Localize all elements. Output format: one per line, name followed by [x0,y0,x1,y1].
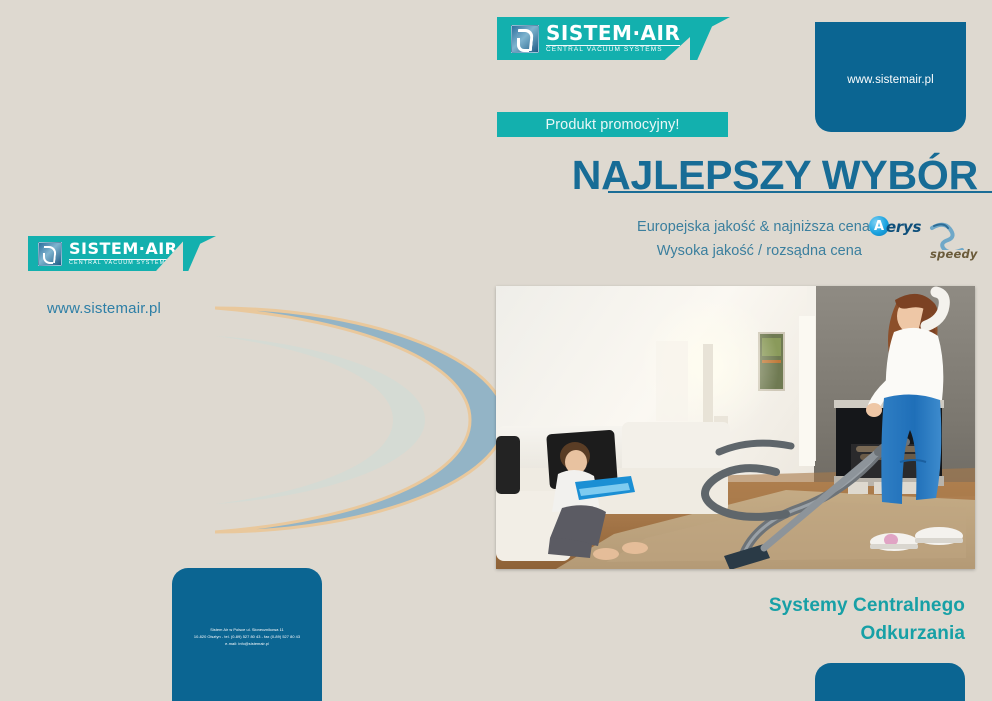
contact-details: Sistem Air w Polsce ul. Słonecznikowa 11… [172,626,322,648]
speedy-wordmark: speedy [930,247,978,261]
aerys-wordmark: erys [886,218,921,236]
logo-banner-top: SISTEM·AIR CENTRAL VACUUM SYSTEMS [497,17,712,60]
section-caption: Systemy Centralnego Odkurzania [560,592,965,647]
contact-line-3: e-mail: info@sistemair.pl [172,640,322,647]
claim-line-2: Wysoka jakość / rozsądna cena [400,243,862,259]
logo-banner-left-tail [183,236,216,271]
brand-name: SISTEM·AIR [69,241,178,257]
panel-bottom-left-contact: Sistem Air w Polsce ul. Słonecznikowa 11… [172,568,322,701]
contact-line-2: 10-820 Olsztyn - tel. (0-89) 527 80 43 -… [172,633,322,640]
title-underline [608,191,992,193]
claim-line-1: Europejska jakość & najniższa cena [400,219,870,235]
hero-photo [496,286,975,569]
caption-line-1: Systemy Centralnego [560,592,965,620]
brand-name: SISTEM·AIR [546,23,680,43]
promo-badge: Produkt promocyjny! [497,112,728,137]
sistem-air-logo-icon [38,242,62,266]
brand-tagline: CENTRAL VACUUM SYSTEMS [546,45,680,54]
swoosh-decoration [215,300,505,540]
brand-tagline: CENTRAL VACUUM SYSTEMS [69,259,178,266]
website-url-top[interactable]: www.sistemair.pl [815,74,966,86]
logo-banner-top-tail [690,17,730,60]
aerys-logo-icon: A erys [869,216,927,238]
sistem-air-logo-icon [511,25,539,53]
caption-line-2: Odkurzania [560,620,965,648]
brochure-page: SISTEM·AIR CENTRAL VACUUM SYSTEMS SISTEM… [0,0,992,701]
website-url-left[interactable]: www.sistemair.pl [47,300,161,317]
panel-top-right: www.sistemair.pl [815,22,966,132]
panel-bottom-right [815,663,965,701]
speedy-logo-icon: speedy [928,222,984,264]
logo-banner-left: SISTEM·AIR CENTRAL VACUUM SYSTEMS [28,236,188,271]
promo-badge-label: Produkt promocyjny! [545,117,679,133]
contact-line-1: Sistem Air w Polsce ul. Słonecznikowa 11 [172,626,322,633]
